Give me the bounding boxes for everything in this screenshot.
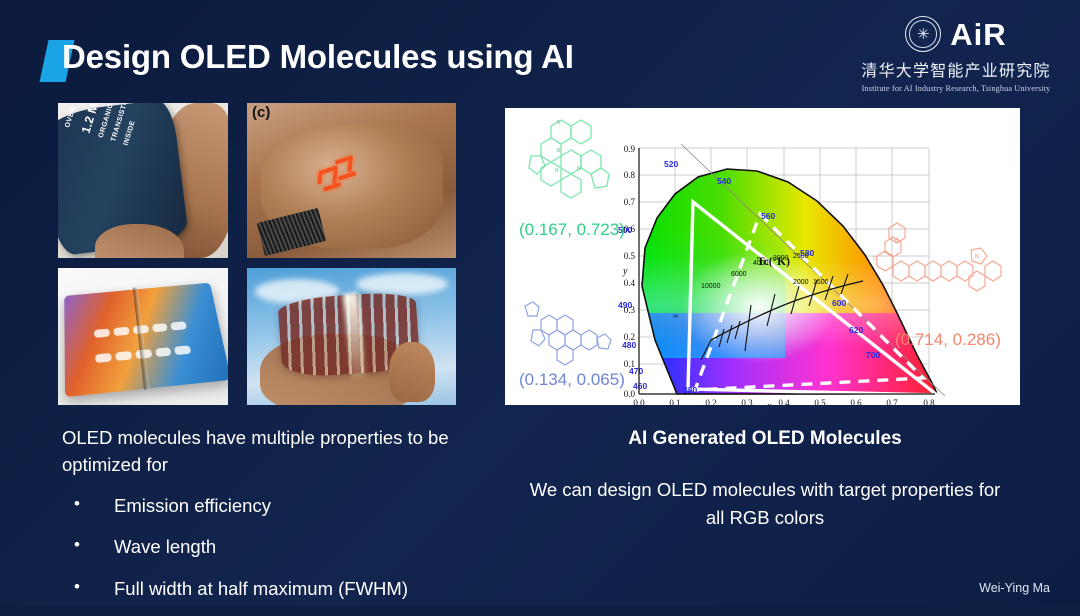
bullet-fwhm: Full width at half maximum (FWHM) — [62, 575, 482, 602]
svg-text:0.6: 0.6 — [850, 398, 862, 405]
red-emitter-coordinates: (0.714, 0.286) — [895, 330, 1001, 350]
svg-text:2000: 2000 — [793, 279, 809, 286]
svg-text:0.5: 0.5 — [624, 251, 636, 261]
svg-text:0.7: 0.7 — [886, 398, 898, 405]
svg-text:460: 460 — [633, 381, 647, 391]
blue-oled-molecule — [525, 302, 611, 365]
right-text-block: AI Generated OLED Molecules We can desig… — [525, 428, 1005, 532]
logo-mark-row: AiR — [905, 14, 1006, 54]
bullet-emission-efficiency: Emission efficiency — [62, 492, 482, 519]
svg-text:1500: 1500 — [813, 279, 829, 286]
photo-flexible-organic-display: OVER 1.2 MILLION ORGANIC TRANSISTORS INS… — [58, 103, 228, 258]
svg-text:0.2: 0.2 — [705, 398, 716, 405]
svg-text:540: 540 — [717, 176, 731, 186]
svg-text:O: O — [895, 238, 899, 244]
logo-chinese-name: 清华大学智能产业研究院 — [861, 57, 1050, 81]
svg-text:0.8: 0.8 — [923, 398, 935, 405]
photo-skin-mounted-oled: (c) — [247, 103, 456, 258]
svg-text:600: 600 — [832, 298, 846, 308]
photo-foldable-smartphone — [58, 268, 228, 405]
svg-text:N: N — [557, 120, 561, 126]
y-axis-title: y — [622, 266, 628, 277]
svg-text:0.2: 0.2 — [624, 332, 635, 342]
chart-caption-heading: AI Generated OLED Molecules — [525, 428, 1005, 450]
svg-text:N: N — [555, 168, 559, 174]
svg-text:0.8: 0.8 — [624, 170, 636, 180]
cie-diagram-svg: Tc(°K) 10000 6000 4000 3000 2500 2000 15… — [505, 108, 1020, 405]
svg-text:620: 620 — [849, 325, 863, 335]
svg-text:0.0: 0.0 — [633, 398, 645, 405]
svg-text:560: 560 — [761, 211, 775, 221]
green-oled-molecule: B N N N — [529, 120, 609, 198]
green-emitter-coordinates: (0.167, 0.723) — [519, 220, 625, 240]
svg-text:0.5: 0.5 — [814, 398, 826, 405]
photo-flexible-solar-cell — [247, 268, 456, 405]
photo2-panel-label: (c) — [252, 104, 270, 121]
svg-text:10000: 10000 — [701, 283, 721, 290]
svg-text:0.1: 0.1 — [669, 398, 680, 405]
svg-text:0.3: 0.3 — [624, 305, 636, 315]
svg-text:0.7: 0.7 — [624, 197, 636, 207]
left-text-block: OLED molecules have multiple properties … — [62, 424, 482, 616]
svg-text:0.4: 0.4 — [778, 398, 790, 405]
svg-text:6000: 6000 — [731, 271, 747, 278]
page-title: Design OLED Molecules using AI — [62, 38, 574, 76]
svg-text:N: N — [577, 166, 581, 172]
svg-text:3000: 3000 — [773, 255, 789, 262]
svg-text:4000: 4000 — [753, 260, 769, 267]
svg-text:0.1: 0.1 — [624, 359, 635, 369]
svg-text:Cl: Cl — [873, 256, 878, 262]
svg-text:∞: ∞ — [673, 313, 678, 320]
logo-wordmark: AiR — [950, 19, 1006, 50]
photo4-thumb — [389, 342, 435, 402]
svg-text:520: 520 — [664, 159, 678, 169]
svg-text:N: N — [975, 254, 979, 260]
photo1-caption: OVER 1.2 MILLION ORGANIC TRANSISTORS INS… — [62, 103, 157, 148]
tsinghua-seal-icon — [905, 16, 941, 52]
cie-chromaticity-chart: Tc(°K) 10000 6000 4000 3000 2500 2000 15… — [505, 108, 1020, 405]
svg-text:0.6: 0.6 — [624, 224, 636, 234]
svg-text:0.4: 0.4 — [624, 278, 636, 288]
svg-text:0.0: 0.0 — [624, 389, 636, 399]
chart-caption-body: We can design OLED molecules with target… — [525, 476, 1005, 532]
x-axis-tick-labels: 0.0 0.1 0.2 0.3 0.4 0.5 0.6 0.7 0.8 — [633, 398, 935, 405]
x-axis-title: x — [766, 401, 772, 405]
slide: Design OLED Molecules using AI AiR 清华大学智… — [0, 0, 1080, 605]
photo2-seven-segment-oled — [314, 156, 377, 203]
bullet-wave-length: Wave length — [62, 533, 482, 560]
svg-text:700: 700 — [866, 350, 880, 360]
air-logo: AiR 清华大学智能产业研究院 Institute for AI Industr… — [858, 14, 1054, 94]
properties-bullet-list: Emission efficiency Wave length Full wid… — [62, 492, 482, 602]
blue-emitter-coordinates: (0.134, 0.065) — [519, 370, 625, 390]
slide-footer-author: Wei-Ying Ma — [979, 581, 1050, 595]
svg-text:580: 580 — [800, 248, 814, 258]
svg-text:0.9: 0.9 — [624, 144, 636, 154]
photo1-caption-line-5: INSIDE — [123, 120, 137, 147]
logo-english-name: Institute for AI Industry Research, Tsin… — [862, 84, 1051, 93]
svg-text:0.3: 0.3 — [741, 398, 753, 405]
left-intro-text: OLED molecules have multiple properties … — [62, 424, 482, 479]
